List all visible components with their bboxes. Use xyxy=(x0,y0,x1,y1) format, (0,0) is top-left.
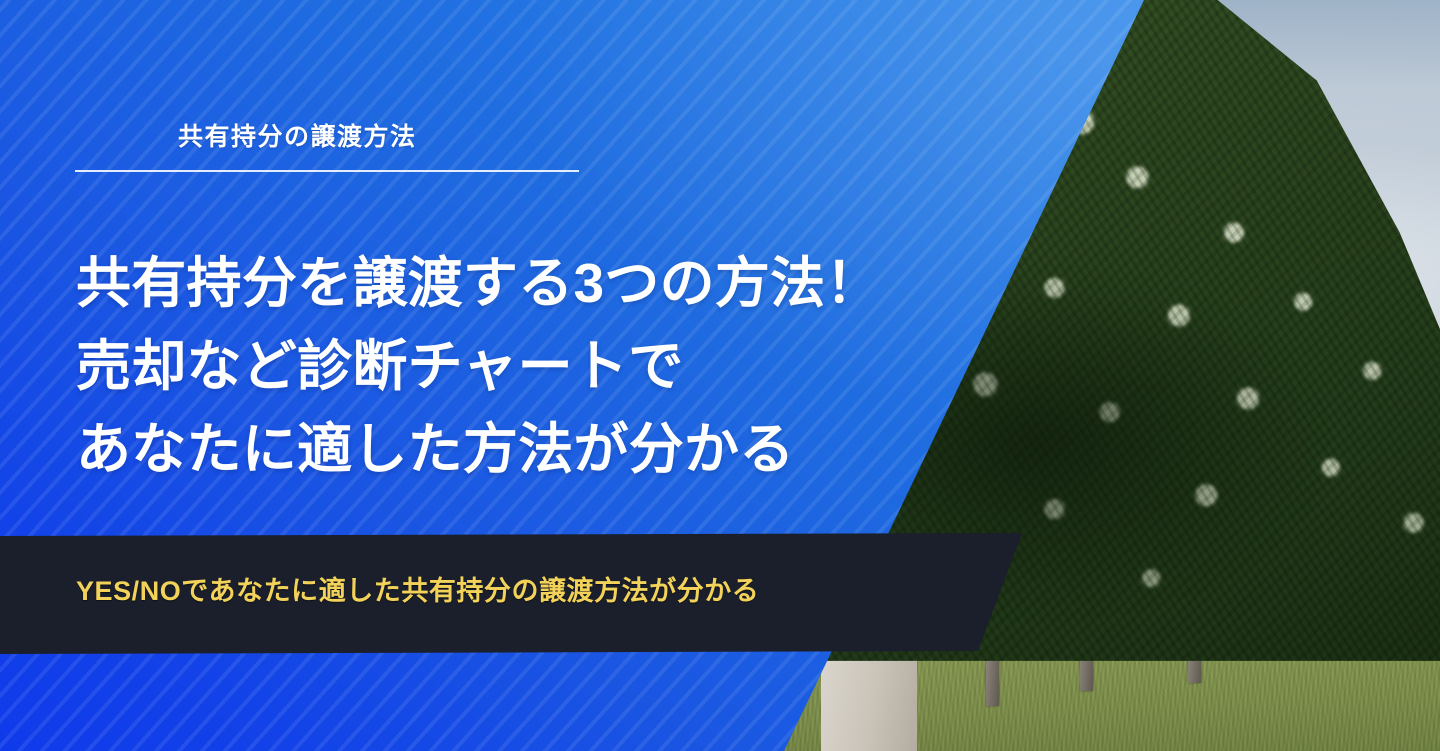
eyebrow-label: 共有持分の譲渡方法 xyxy=(178,117,417,153)
headline-line-3: あなたに適した方法が分かる xyxy=(76,408,881,491)
hero-banner-image: 共有持分の譲渡方法 共有持分を譲渡する3つの方法！ 売却など診断チャートで あな… xyxy=(0,0,1440,751)
subtitle-text: YES/NOであなたに適した共有持分の譲渡方法が分かる xyxy=(76,569,759,608)
headline-line-1: 共有持分を譲渡する3つの方法！ xyxy=(76,242,881,325)
page-title: 共有持分を譲渡する3つの方法！ 売却など診断チャートで あなたに適した方法が分か… xyxy=(76,242,881,491)
headline-line-2: 売却など診断チャートで xyxy=(76,325,881,408)
subtitle-ribbon: YES/NOであなたに適した共有持分の譲渡方法が分かる xyxy=(0,533,1040,657)
eyebrow-divider xyxy=(75,170,579,172)
